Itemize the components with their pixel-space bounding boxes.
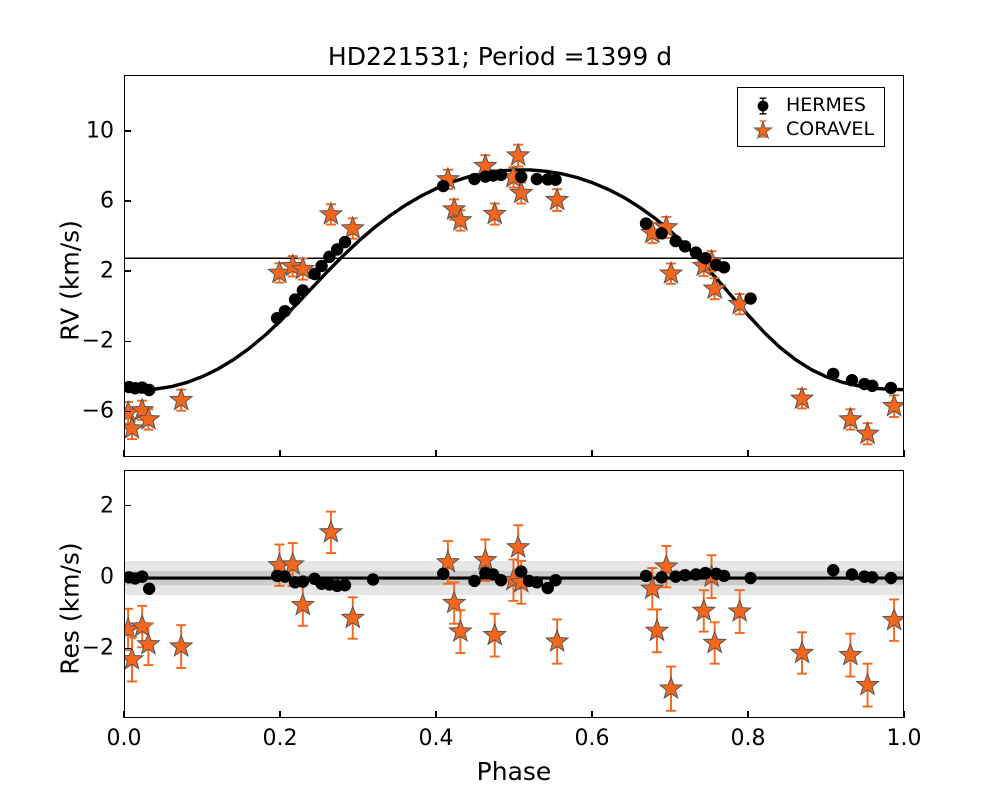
- data-point-circle: [531, 173, 543, 185]
- data-point-circle: [827, 564, 839, 576]
- x-tickmark: [435, 711, 437, 718]
- x-tickmark: [123, 711, 125, 718]
- x-tickmark: [747, 450, 749, 457]
- x-tick-label: 0.2: [263, 726, 298, 751]
- y-tickmark: [124, 411, 131, 413]
- data-point-circle: [297, 284, 309, 296]
- y-tickmark: [124, 576, 131, 578]
- data-point-circle: [143, 384, 155, 396]
- data-point-circle: [744, 572, 756, 584]
- star-marker-icon: [746, 118, 780, 140]
- legend-entry-coravel: CORAVEL: [746, 117, 874, 141]
- data-point-circle: [866, 571, 878, 583]
- residual-axis-label: Res (km/s): [56, 479, 85, 739]
- y-tickmark: [124, 270, 131, 272]
- data-point-circle: [679, 240, 691, 252]
- series-coravel: [125, 144, 904, 444]
- data-point-circle: [437, 180, 449, 192]
- y-tick-label: 10: [14, 119, 114, 144]
- phase-axis-label: Phase: [124, 757, 904, 786]
- data-point-circle: [655, 227, 667, 239]
- data-point-circle: [437, 568, 449, 580]
- x-tickmark: [591, 711, 593, 718]
- data-point-circle: [885, 382, 897, 394]
- data-point-circle: [846, 374, 858, 386]
- y-tickmark: [124, 341, 131, 343]
- x-tickmark: [123, 450, 125, 457]
- data-point-circle: [699, 252, 711, 264]
- data-point-circle: [495, 169, 507, 181]
- x-tick-label: 1.0: [887, 726, 922, 751]
- x-tickmark: [435, 450, 437, 457]
- data-point-circle: [143, 583, 155, 595]
- x-tickmark: [903, 711, 905, 718]
- x-tick-label: 0.8: [731, 726, 766, 751]
- data-point-circle: [495, 574, 507, 586]
- data-point-star: [125, 618, 139, 639]
- x-tickmark: [279, 711, 281, 718]
- x-tickmark: [903, 450, 905, 457]
- data-point-circle: [655, 571, 667, 583]
- figure-title: HD221531; Period =1399 d: [0, 42, 1000, 71]
- residual-panel: [124, 470, 904, 718]
- series-hermes: [125, 169, 897, 397]
- rv-axis-label: RV (km/s): [56, 151, 85, 411]
- residual-plot-canvas: [125, 471, 904, 718]
- data-point-circle: [699, 567, 711, 579]
- figure-radial-velocity-phase-plot: HD221531; Period =1399 d 1062−2−620−20.0…: [0, 0, 1000, 800]
- data-point-circle: [827, 368, 839, 380]
- x-tick-label: 0.4: [419, 726, 454, 751]
- data-point-circle: [531, 576, 543, 588]
- y-tickmark: [124, 200, 131, 202]
- data-point-circle: [136, 570, 148, 582]
- data-point-circle: [846, 568, 858, 580]
- data-point-circle: [718, 261, 730, 273]
- legend: HERMES CORAVEL: [737, 87, 885, 147]
- x-tick-label: 0.6: [575, 726, 610, 751]
- data-point-circle: [339, 579, 351, 591]
- data-point-circle: [367, 573, 379, 585]
- series-coravel: [125, 512, 904, 711]
- data-point-circle: [640, 217, 652, 229]
- data-point-circle: [297, 575, 309, 587]
- data-point-circle: [279, 305, 291, 317]
- circle-marker-icon: [746, 95, 780, 115]
- data-point-circle: [339, 236, 351, 248]
- data-point-circle: [679, 569, 691, 581]
- x-tickmark: [279, 450, 281, 457]
- data-point-circle: [640, 570, 652, 582]
- x-tickmark: [591, 450, 593, 457]
- legend-entry-hermes: HERMES: [746, 93, 874, 117]
- data-point-circle: [885, 572, 897, 584]
- data-point-circle: [515, 171, 527, 183]
- y-tickmark: [124, 648, 131, 650]
- data-point-circle: [549, 174, 561, 186]
- data-point-circle: [866, 380, 878, 392]
- x-tick-label: 0.0: [107, 726, 142, 751]
- data-point-circle: [549, 574, 561, 586]
- data-point-circle: [744, 292, 756, 304]
- x-tickmark: [747, 711, 749, 718]
- data-point-circle: [718, 570, 730, 582]
- y-tickmark: [124, 505, 131, 507]
- legend-label-hermes: HERMES: [780, 94, 866, 116]
- legend-label-coravel: CORAVEL: [780, 118, 874, 140]
- data-point-circle: [468, 575, 480, 587]
- data-point-circle: [468, 173, 480, 185]
- y-tickmark: [124, 130, 131, 132]
